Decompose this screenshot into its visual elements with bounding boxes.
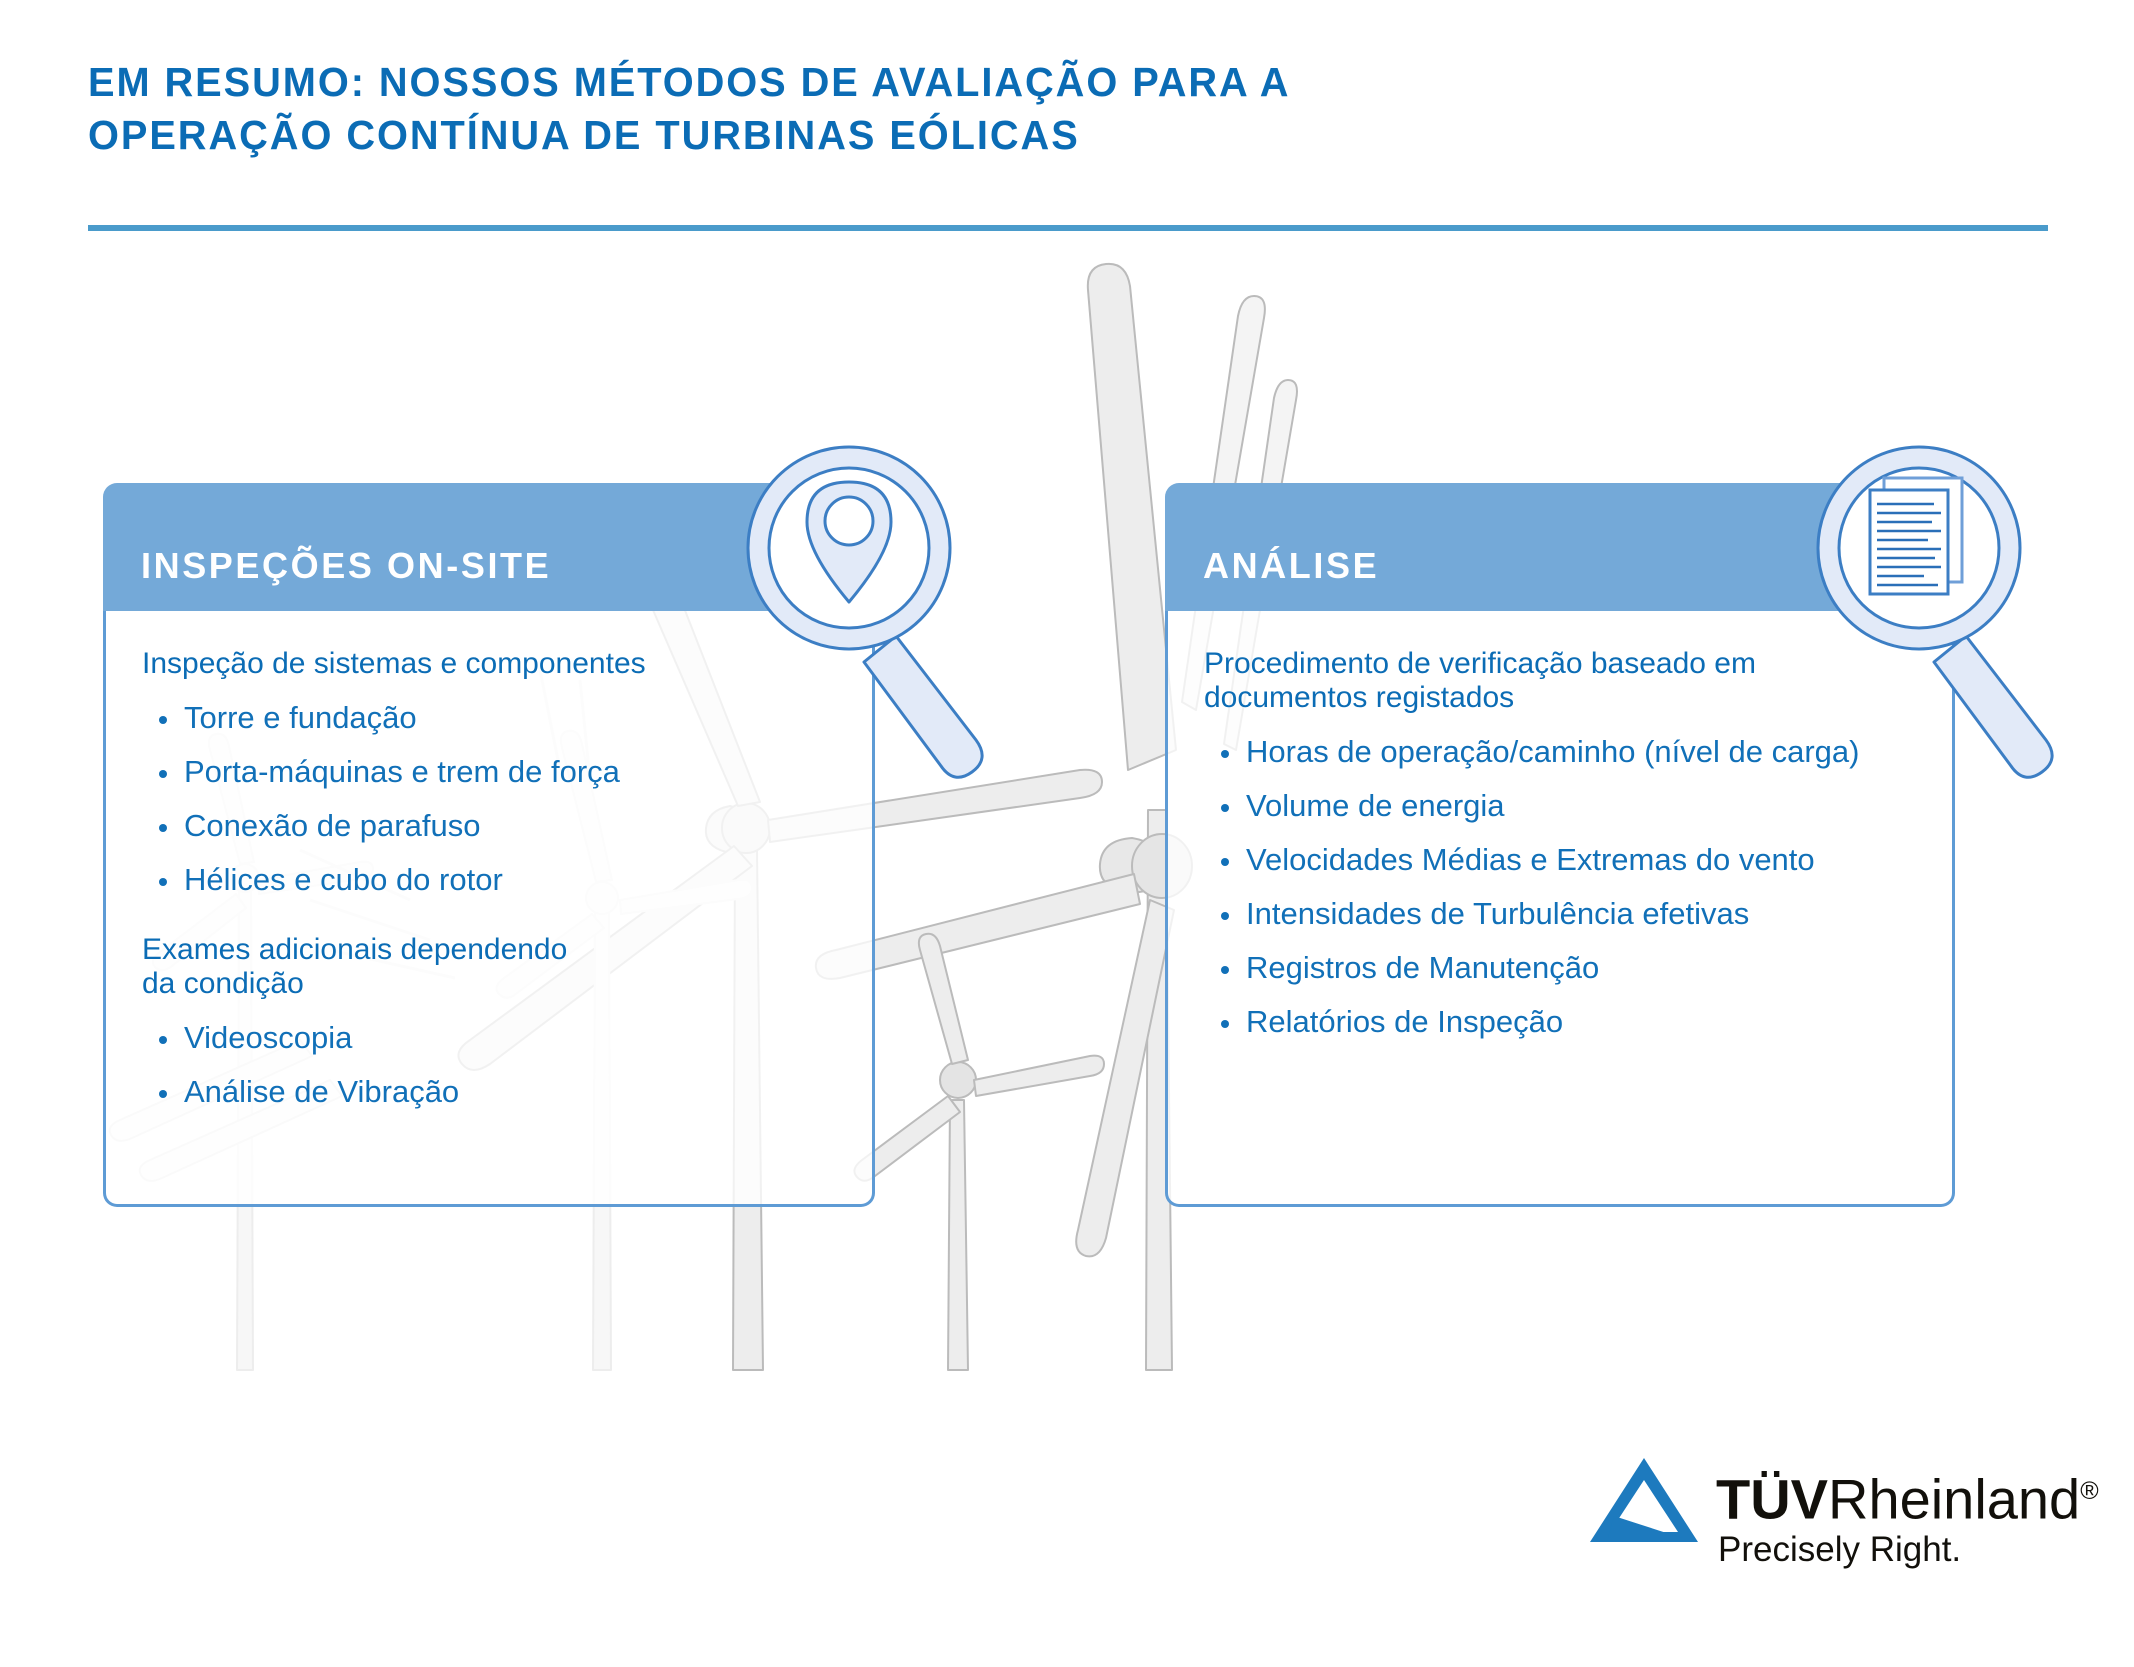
section-spacer: [142, 907, 842, 933]
list-item: Intensidades de Turbulência efetivas: [1204, 887, 1922, 941]
page-title-line-2: OPERAÇÃO CONTÍNUA DE TURBINAS EÓLICAS: [88, 109, 1989, 162]
list-item: Porta-máquinas e trem de força: [142, 745, 842, 799]
tuv-triangle-mark-icon: [1586, 1456, 1706, 1548]
card-body-analise: Procedimento de verificação baseado em d…: [1165, 611, 1955, 1207]
bullet-list-inspecao-sistemas: Torre e fundação Porta-máquinas e trem d…: [142, 691, 842, 907]
list-item: Relatórios de Inspeção: [1204, 995, 1922, 1049]
card-header-title-analise: ANÁLISE: [1203, 547, 1379, 585]
registered-trademark-icon: ®: [2080, 1477, 2098, 1505]
bullet-list-exames-adicionais: Videoscopia Análise de Vibração: [142, 1011, 842, 1119]
list-item: Torre e fundação: [142, 691, 842, 745]
list-item: Horas de operação/caminho (nível de carg…: [1204, 725, 1922, 779]
title-divider-rule: [88, 225, 2048, 231]
card-header-title-inspecoes: INSPEÇÕES ON-SITE: [141, 547, 551, 585]
section-heading-inspecao-sistemas: Inspeção de sistemas e componentes: [142, 647, 842, 681]
list-item: Análise de Vibração: [142, 1065, 842, 1119]
list-item: Registros de Manutenção: [1204, 941, 1922, 995]
section-heading-procedimento-verificacao: Procedimento de verificação baseado em d…: [1204, 647, 1922, 715]
section-heading-exames-adicionais: Exames adicionais dependendo da condição: [142, 933, 842, 1001]
page-title: EM RESUMO: NOSSOS MÉTODOS DE AVALIAÇÃO P…: [88, 56, 2048, 162]
list-item: Conexão de parafuso: [142, 799, 842, 853]
card-analise: ANÁLISE Procedimento de verificação base…: [1165, 483, 1955, 1207]
card-inspecoes-on-site: INSPEÇÕES ON-SITE Inspeção de sistemas e…: [103, 483, 875, 1207]
logo-brand-regular: Rheinland: [1828, 1468, 2080, 1531]
list-item: Velocidades Médias e Extremas do vento: [1204, 833, 1922, 887]
bullet-list-analise: Horas de operação/caminho (nível de carg…: [1204, 725, 1922, 1049]
page-title-line-1: EM RESUMO: NOSSOS MÉTODOS DE AVALIAÇÃO P…: [88, 56, 1989, 109]
list-item: Volume de energia: [1204, 779, 1922, 833]
logo-brand-bold: TÜV: [1716, 1468, 1828, 1531]
logo-tagline: Precisely Right.: [1718, 1530, 1961, 1570]
list-item: Hélices e cubo do rotor: [142, 853, 842, 907]
tuv-rheinland-logo: TÜVRheinland® Precisely Right.: [1586, 1452, 2066, 1602]
card-body-inspecoes: Inspeção de sistemas e componentes Torre…: [103, 611, 875, 1207]
card-header-analise: ANÁLISE: [1165, 483, 1955, 611]
list-item: Videoscopia: [142, 1011, 842, 1065]
logo-wordmark: TÜVRheinland®: [1716, 1462, 2099, 1529]
card-header-inspecoes: INSPEÇÕES ON-SITE: [103, 483, 875, 611]
